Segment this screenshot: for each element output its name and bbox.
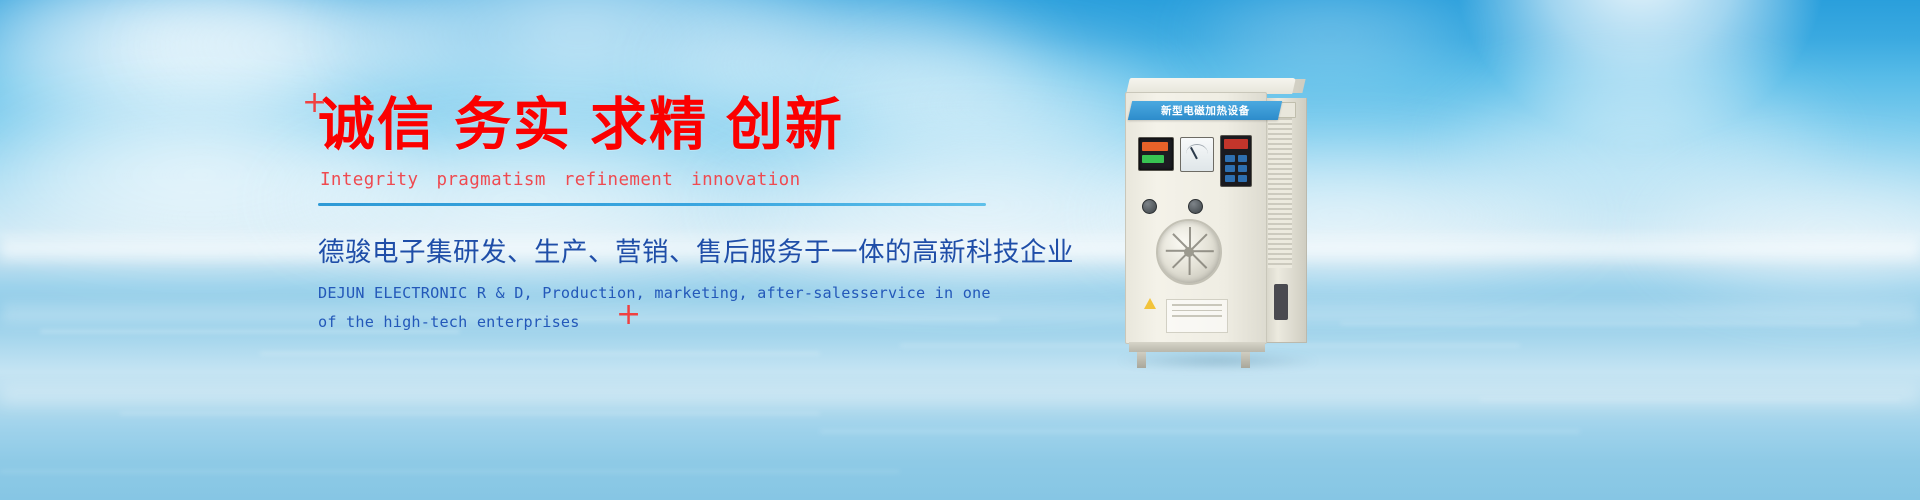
cabinet-leg [1241,352,1250,368]
subtitle-word: refinement [564,170,673,190]
water-streak [1480,398,1900,401]
cloud-shape [1180,0,1480,90]
subtitle-word: pragmatism [436,170,545,190]
fan-spoke [1189,233,1207,251]
gauge-arc [1186,144,1208,154]
description-line-1: DEJUN ELECTRONIC R & D, Production, mark… [318,279,1018,309]
keypad-display [1224,139,1248,149]
fan-spoke [1172,233,1190,251]
fan-spoke [1166,250,1190,252]
hero-banner: + + 诚信务实求精创新 Integritypragmatismrefineme… [0,0,1920,500]
fan-spoke [1189,250,1207,268]
warning-label-icon [1144,298,1157,310]
headline-word: 求精 [590,92,708,158]
fan-spoke [1189,251,1191,275]
water-streak [820,430,1580,433]
banner-headline: 诚信务实求精创新 [318,96,1018,156]
cloud-shape [1430,60,1850,230]
ventilation-slots [1268,118,1292,268]
cloud-shape [1640,150,1920,310]
water-streak [1340,322,1860,325]
fan-spoke [1190,250,1214,252]
section-divider [318,203,986,206]
control-panel [1136,133,1256,193]
water-streak [0,470,900,473]
fan-spoke [1189,227,1191,251]
company-description-english: DEJUN ELECTRONIC R & D, Production, mark… [318,279,1018,338]
keypad-row [1225,175,1247,182]
keypad-row [1225,165,1247,172]
display-segment-upper [1142,142,1168,151]
control-knob [1142,199,1157,214]
subtitle-word: Integrity [320,170,418,190]
horizon-haze [0,380,1920,410]
spec-line [1172,315,1222,317]
digital-temperature-display [1138,137,1174,171]
cabinet-leg [1137,352,1146,368]
headline-word: 诚信 [318,92,436,158]
spec-plate [1166,299,1228,333]
keypad-row [1225,155,1247,162]
keypad-key [1238,165,1248,172]
keypad-key [1225,165,1235,172]
spec-line [1172,310,1222,312]
description-line-2: of the high-tech enterprises [318,308,1018,338]
water-streak [120,412,820,415]
side-handle [1274,284,1288,320]
fan-spoke [1172,250,1190,268]
banner-subtitle-english: Integritypragmatismrefinementinnovation [320,170,1018,190]
warning-triangle [1144,298,1156,309]
cooling-fan-grille [1156,219,1222,285]
subtitle-word: innovation [691,170,800,190]
cabinet-front: 新型电磁加热设备 [1125,92,1267,344]
cabinet-base [1129,342,1265,352]
company-description-chinese: 德骏电子集研发、生产、营销、售后服务于一体的高新科技企业 [318,230,1018,269]
spec-line [1172,304,1222,306]
keypad-key [1225,155,1235,162]
control-keypad [1220,135,1252,187]
analog-gauge [1180,137,1214,172]
keypad-key [1238,175,1248,182]
product-label-text: 新型电磁加热设备 [1161,103,1250,118]
water-streak [260,352,820,355]
control-knob [1188,199,1203,214]
product-label-banner: 新型电磁加热设备 [1128,101,1282,120]
keypad-key [1238,155,1248,162]
headline-word: 务实 [454,92,572,158]
headline-word: 创新 [726,92,844,158]
cabinet-right-side [1265,98,1307,343]
display-segment-lower [1142,155,1164,163]
keypad-key [1225,175,1235,182]
product-image-electromagnetic-heater: 新型电磁加热设备 [1125,78,1305,363]
banner-text-block: 诚信务实求精创新 Integritypragmatismrefinementin… [318,96,1018,338]
